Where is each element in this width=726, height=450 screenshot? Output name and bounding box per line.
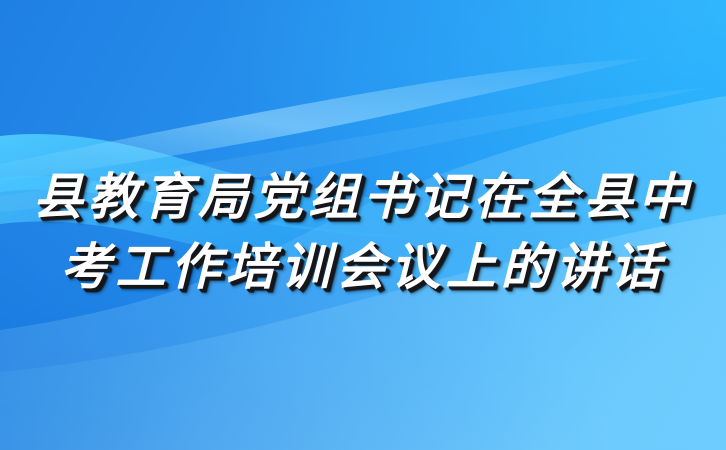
title-banner: 县教育局党组书记在全县中 考工作培训会议上的讲话	[0, 0, 726, 450]
title-line-1: 县教育局党组书记在全县中	[0, 163, 726, 231]
page-title: 县教育局党组书记在全县中 考工作培训会议上的讲话	[0, 163, 726, 301]
title-line-2: 考工作培训会议上的讲话	[0, 233, 726, 301]
